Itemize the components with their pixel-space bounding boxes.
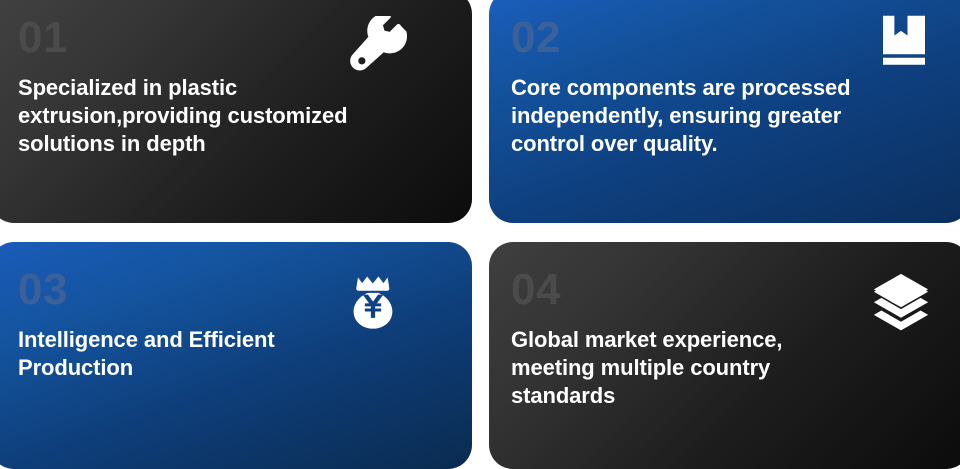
card-content: 01 Specialized in plastic extrusion,prov…	[8, 16, 458, 203]
card-number: 03	[18, 268, 458, 312]
card-content: 03 Intelligence and Efficient Production	[8, 268, 458, 449]
card-number: 02	[511, 16, 950, 60]
feature-card-01[interactable]: 01 Specialized in plastic extrusion,prov…	[0, 0, 472, 223]
card-description: Intelligence and Efficient Production	[18, 326, 448, 382]
card-description: Specialized in plastic extrusion,providi…	[18, 74, 448, 158]
card-description: Global market experience, meeting multip…	[511, 326, 911, 410]
card-number: 04	[511, 268, 950, 312]
feature-card-03[interactable]: 03 Intelligence and Efficient Production	[0, 242, 472, 469]
card-content: 04 Global market experience, meeting mul…	[507, 268, 950, 449]
feature-card-02[interactable]: 02 Core components are processed indepen…	[489, 0, 960, 223]
feature-card-04[interactable]: 04 Global market experience, meeting mul…	[489, 242, 960, 469]
card-description: Core components are processed independen…	[511, 74, 950, 158]
card-content: 02 Core components are processed indepen…	[507, 16, 950, 203]
feature-card-grid: 01 Specialized in plastic extrusion,prov…	[0, 0, 960, 459]
card-number: 01	[18, 16, 458, 60]
